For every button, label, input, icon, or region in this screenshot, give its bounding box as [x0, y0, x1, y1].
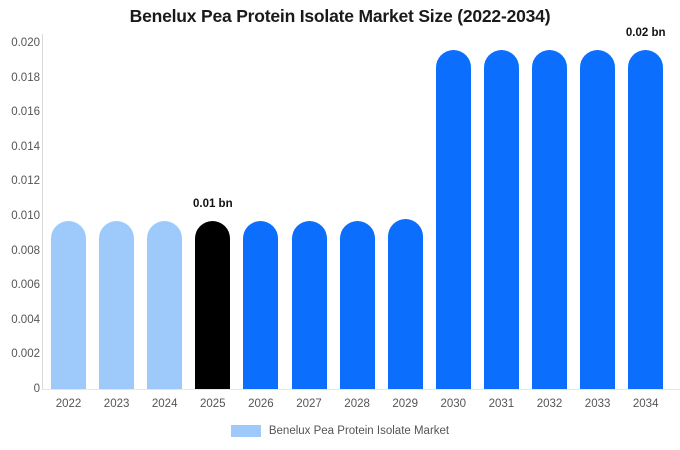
bar-value-label: 0.02 bn [626, 27, 666, 39]
x-axis-tick-label: 2027 [296, 398, 322, 410]
bar-value-label: 0.01 bn [193, 198, 233, 210]
legend-swatch-icon [231, 425, 261, 437]
x-axis-tick-label: 2023 [104, 398, 130, 410]
x-axis-tick-label: 2024 [152, 398, 178, 410]
chart-legend: Benelux Pea Protein Isolate Market [0, 425, 680, 437]
x-axis-tick-labels: 2022202320242025202620272028202920302031… [0, 0, 680, 450]
x-axis-tick-label: 2034 [633, 398, 659, 410]
x-axis-tick-label: 2031 [489, 398, 515, 410]
x-axis-tick-label: 2025 [200, 398, 226, 410]
x-axis-tick-label: 2030 [441, 398, 467, 410]
x-axis-tick-label: 2032 [537, 398, 563, 410]
x-axis-tick-label: 2029 [392, 398, 418, 410]
x-axis-tick-label: 2033 [585, 398, 611, 410]
x-axis-tick-label: 2026 [248, 398, 274, 410]
x-axis-tick-label: 2028 [344, 398, 370, 410]
legend-label: Benelux Pea Protein Isolate Market [269, 425, 449, 437]
bar-chart: Benelux Pea Protein Isolate Market Size … [0, 0, 680, 450]
x-axis-tick-label: 2022 [56, 398, 82, 410]
